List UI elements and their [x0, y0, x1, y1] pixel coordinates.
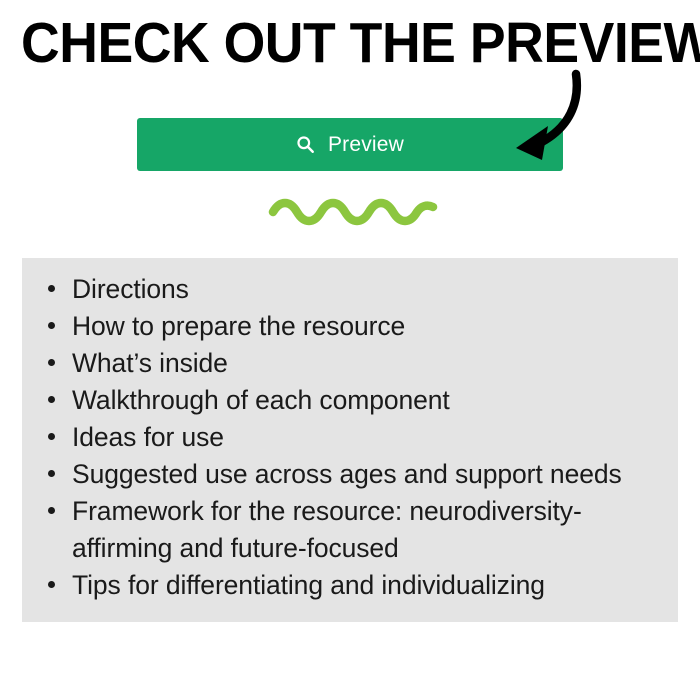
list-item: Walkthrough of each component — [36, 382, 664, 419]
slide-canvas: CHECK OUT THE PREVIEW Preview Directions… — [0, 0, 700, 700]
list-item-label: Directions — [72, 271, 664, 308]
list-item: How to prepare the resource — [36, 308, 664, 345]
bullet-dot-icon — [48, 285, 55, 292]
list-item-label: What’s inside — [72, 345, 664, 382]
list-item: Ideas for use — [36, 419, 664, 456]
list-item-label: Tips for differentiating and individuali… — [72, 567, 664, 604]
bullet-list: Directions How to prepare the resource W… — [36, 271, 664, 604]
bullet-dot-icon — [48, 359, 55, 366]
list-item: Framework for the resource: neurodiversi… — [36, 493, 664, 567]
bullet-dot-icon — [48, 322, 55, 329]
list-item-label: Suggested use across ages and support ne… — [72, 456, 664, 493]
search-icon — [296, 135, 315, 154]
page-title: CHECK OUT THE PREVIEW — [21, 12, 679, 74]
squiggle-divider-icon — [268, 198, 438, 226]
preview-button-label: Preview — [328, 134, 404, 155]
list-item-label: Ideas for use — [72, 419, 664, 456]
bullet-list-panel: Directions How to prepare the resource W… — [22, 258, 678, 622]
bullet-dot-icon — [48, 396, 55, 403]
list-item-label: Walkthrough of each component — [72, 382, 664, 419]
list-item: What’s inside — [36, 345, 664, 382]
list-item-label: How to prepare the resource — [72, 308, 664, 345]
bullet-dot-icon — [48, 470, 55, 477]
bullet-dot-icon — [48, 581, 55, 588]
preview-button[interactable]: Preview — [137, 118, 563, 171]
bullet-dot-icon — [48, 507, 55, 514]
list-item-label: Framework for the resource: neurodiversi… — [72, 493, 664, 567]
list-item: Suggested use across ages and support ne… — [36, 456, 664, 493]
list-item: Tips for differentiating and individuali… — [36, 567, 664, 604]
bullet-dot-icon — [48, 433, 55, 440]
list-item: Directions — [36, 271, 664, 308]
